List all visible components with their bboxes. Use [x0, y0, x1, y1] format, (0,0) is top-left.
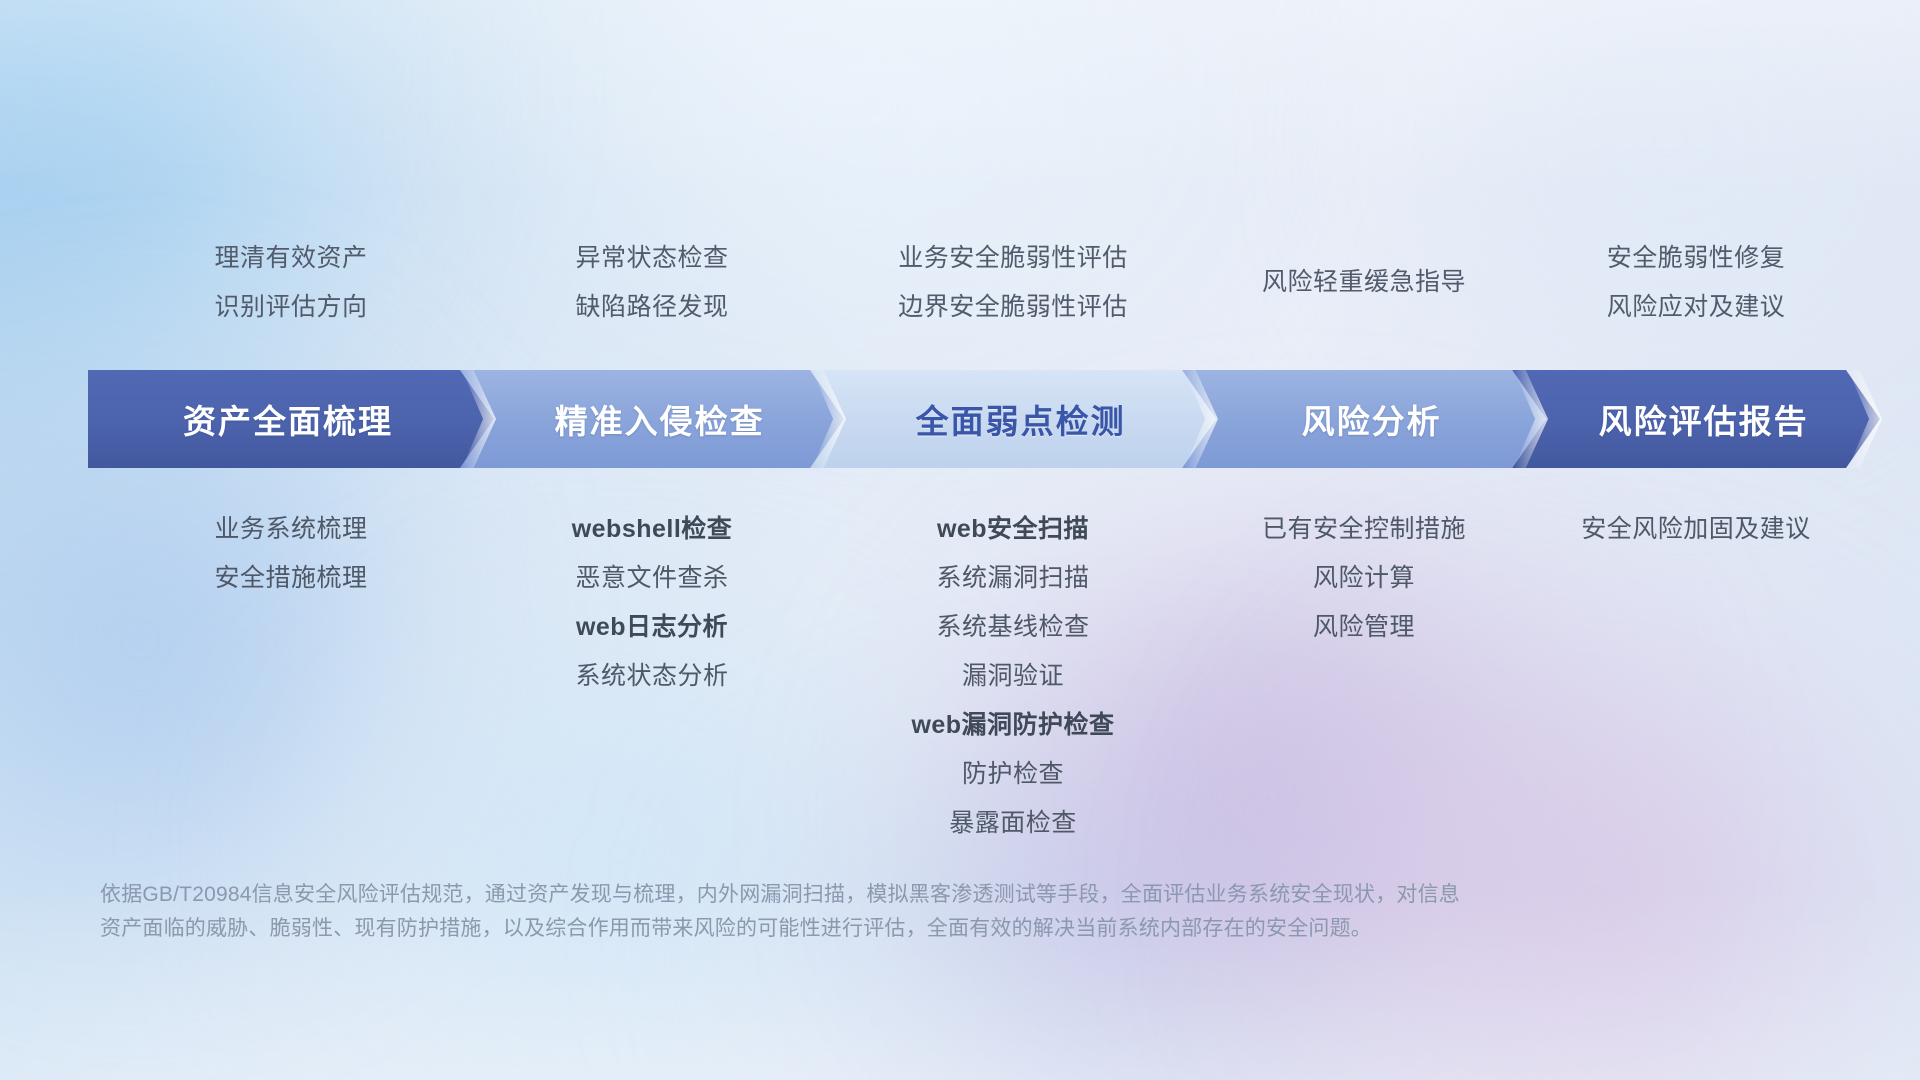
top-item: 理清有效资产 — [81, 234, 501, 283]
stage-label-weakness-detection: 全面弱点检测 — [916, 395, 1126, 443]
stage-chevron-asset-inventory[interactable]: 资产全面梳理 — [88, 370, 494, 468]
stage-chevron-weakness-detection[interactable]: 全面弱点检测 — [810, 370, 1216, 468]
stage-label-asset-inventory: 资产全面梳理 — [183, 395, 393, 443]
top-item: 缺陷路径发现 — [442, 283, 862, 332]
bottom-item: web漏洞防护检查 — [803, 701, 1223, 750]
stage-bottom-items-assessment-report: 安全风险加固及建议 — [1486, 505, 1906, 554]
stage-chevron-assessment-report[interactable]: 风险评估报告 — [1512, 370, 1880, 468]
bottom-item: 系统状态分析 — [442, 652, 862, 701]
bottom-item: 业务系统梳理 — [81, 505, 501, 554]
bottom-item: web日志分析 — [442, 603, 862, 652]
bottom-item: 漏洞验证 — [803, 652, 1223, 701]
stage-bottom-items-asset-inventory: 业务系统梳理安全措施梳理 — [81, 505, 501, 603]
stage-label-risk-analysis: 风险分析 — [1302, 395, 1442, 443]
bottom-item: 恶意文件查杀 — [442, 554, 862, 603]
stage-top-items-intrusion-check: 异常状态检查缺陷路径发现 — [442, 234, 862, 332]
bottom-item: 安全措施梳理 — [81, 554, 501, 603]
bottom-item: 风险管理 — [1154, 603, 1574, 652]
bottom-item: 风险计算 — [1154, 554, 1574, 603]
top-item: 安全脆弱性修复 — [1486, 234, 1906, 283]
stage-chevron-intrusion-check[interactable]: 精准入侵检查 — [460, 370, 844, 468]
top-item: 风险应对及建议 — [1486, 283, 1906, 332]
top-item: 识别评估方向 — [81, 283, 501, 332]
bottom-item: 暴露面检查 — [803, 799, 1223, 848]
footer-line-1: 依据GB/T20984信息安全风险评估规范，通过资产发现与梳理，内外网漏洞扫描，… — [100, 878, 1740, 912]
diagram-canvas: 理清有效资产识别评估方向 异常状态检查缺陷路径发现 业务安全脆弱性评估边界安全脆… — [0, 0, 1920, 1080]
stage-bottom-items-intrusion-check: webshell检查恶意文件查杀web日志分析系统状态分析 — [442, 505, 862, 701]
bottom-item: 安全风险加固及建议 — [1486, 505, 1906, 554]
top-item: 异常状态检查 — [442, 234, 862, 283]
stage-label-assessment-report: 风险评估报告 — [1599, 395, 1809, 443]
bottom-item: 防护检查 — [803, 750, 1223, 799]
process-arrow-band: 资产全面梳理精准入侵检查全面弱点检测风险分析风险评估报告 — [88, 370, 1846, 468]
stage-top-items-asset-inventory: 理清有效资产识别评估方向 — [81, 234, 501, 332]
footer-line-2: 资产面临的威胁、脆弱性、现有防护措施，以及综合作用而带来风险的可能性进行评估，全… — [100, 912, 1740, 946]
stage-label-intrusion-check: 精准入侵检查 — [555, 395, 765, 443]
bottom-item: webshell检查 — [442, 505, 862, 554]
stage-chevron-risk-analysis[interactable]: 风险分析 — [1182, 370, 1546, 468]
stage-top-items-assessment-report: 安全脆弱性修复风险应对及建议 — [1486, 234, 1906, 332]
footer-description: 依据GB/T20984信息安全风险评估规范，通过资产发现与梳理，内外网漏洞扫描，… — [100, 878, 1740, 946]
